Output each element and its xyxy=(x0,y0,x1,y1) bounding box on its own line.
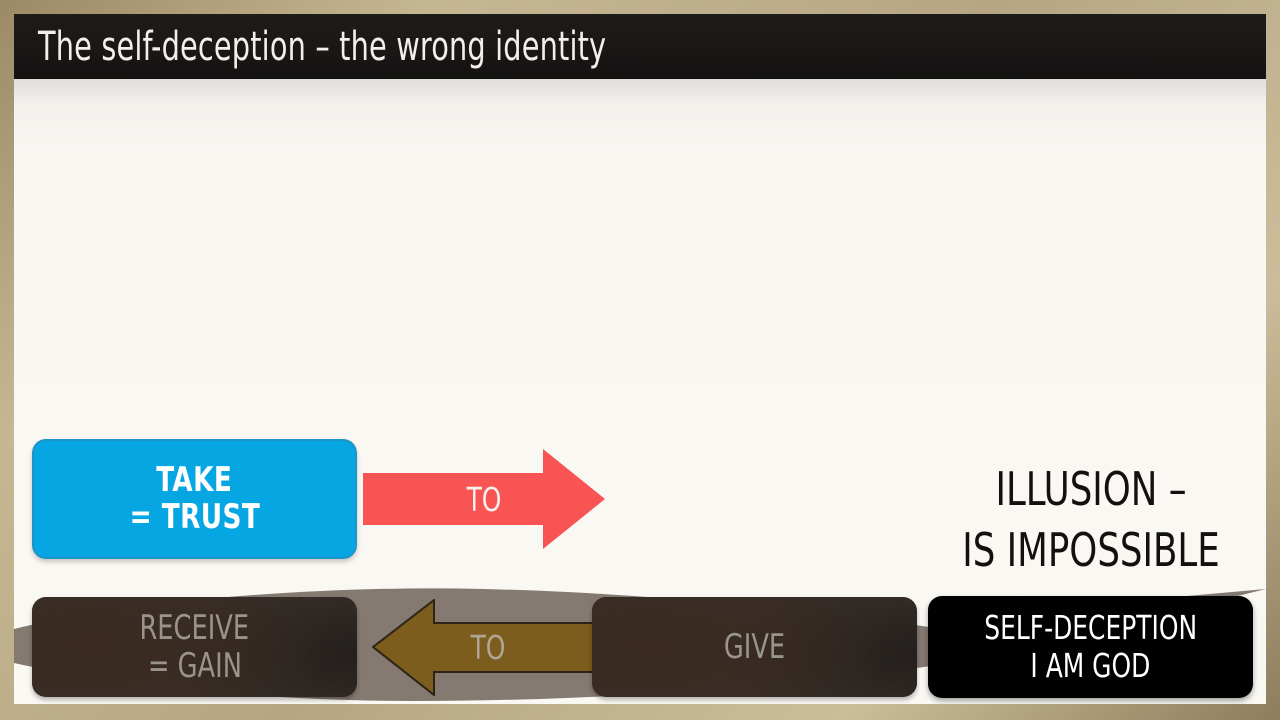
illusion-text: ILLUSION – IS IMPOSSIBLE xyxy=(926,459,1256,581)
illusion-line-1: ILLUSION – xyxy=(949,459,1233,520)
take-trust-line-1: TAKE xyxy=(156,462,232,499)
receive-gain-box[interactable]: RECEIVE = GAIN xyxy=(32,597,357,697)
give-box[interactable]: GIVE xyxy=(592,597,917,697)
slide-frame: The self-deception – the wrong identity … xyxy=(0,0,1280,720)
slide-title-bar: The self-deception – the wrong identity xyxy=(14,14,1266,79)
take-trust-box[interactable]: TAKE = TRUST xyxy=(32,439,357,559)
self-deception-line-1: SELF-DECEPTION xyxy=(984,609,1197,647)
receive-gain-line-1: RECEIVE xyxy=(140,609,250,647)
give-line-1: GIVE xyxy=(724,628,785,666)
take-trust-line-2: = TRUST xyxy=(129,499,260,536)
slide-canvas: TAKE = TRUST TO ILLUSION – IS IMPOSSIBLE… xyxy=(14,79,1266,704)
receive-gain-line-2: = GAIN xyxy=(148,647,242,685)
arrow-left-to[interactable]: TO xyxy=(372,599,604,696)
illusion-line-2: IS IMPOSSIBLE xyxy=(949,520,1233,581)
page-title: The self-deception – the wrong identity xyxy=(38,27,606,67)
arrow-right-to[interactable]: TO xyxy=(363,447,605,551)
self-deception-line-2: I AM GOD xyxy=(1031,647,1151,685)
self-deception-box[interactable]: SELF-DECEPTION I AM GOD xyxy=(928,596,1253,698)
